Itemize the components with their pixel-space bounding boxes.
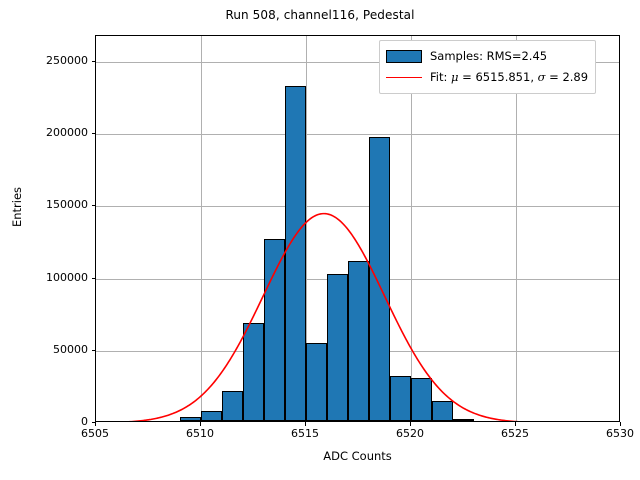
y-axis-tick	[92, 205, 96, 206]
legend-swatch-icon	[386, 50, 422, 63]
x-axis-tick-label: 6520	[370, 427, 450, 440]
y-axis-tick	[92, 278, 96, 279]
x-axis-tick	[620, 422, 621, 426]
y-axis-tick	[92, 61, 96, 62]
x-axis-tick	[305, 422, 306, 426]
legend-fit-prefix: Fit:	[430, 70, 451, 84]
x-axis-tick-label: 6525	[475, 427, 555, 440]
legend-fit-mu-symbol: μ	[451, 70, 458, 84]
page-title: Run 508, channel116, Pedestal	[0, 8, 640, 22]
x-axis-tick	[410, 422, 411, 426]
legend-fit-sigma-symbol: σ	[538, 70, 546, 84]
legend-line-icon	[386, 71, 422, 85]
y-axis-label: Entries	[10, 117, 24, 297]
x-axis-tick	[95, 422, 96, 426]
legend-label-samples: Samples: RMS=2.45	[430, 51, 547, 63]
x-axis-tick-label: 6510	[160, 427, 240, 440]
y-axis-tick	[92, 133, 96, 134]
x-axis-tick-label: 6530	[580, 427, 640, 440]
legend-item-samples: Samples: RMS=2.45	[386, 46, 588, 67]
x-axis-tick-label: 6505	[55, 427, 135, 440]
x-axis-tick	[200, 422, 201, 426]
x-axis-tick-label: 6515	[265, 427, 345, 440]
x-axis-label: ADC Counts	[95, 449, 620, 463]
legend-label-fit: Fit: μ = 6515.851, σ = 2.89	[430, 72, 588, 84]
legend: Samples: RMS=2.45 Fit: μ = 6515.851, σ =…	[379, 40, 596, 94]
legend-item-fit: Fit: μ = 6515.851, σ = 2.89	[386, 67, 588, 88]
y-axis-tick-label: 0	[8, 415, 88, 428]
y-axis-tick-label: 250000	[8, 54, 88, 67]
x-axis-tick	[515, 422, 516, 426]
legend-fit-mu-value: = 6515.851,	[459, 70, 538, 84]
fit-curve-path	[96, 214, 620, 422]
y-axis-tick-label: 50000	[8, 343, 88, 356]
y-axis-tick	[92, 350, 96, 351]
y-axis-tick	[92, 422, 96, 423]
legend-fit-sigma-value: = 2.89	[546, 70, 589, 84]
figure-canvas: Run 508, channel116, Pedestal 6505651065…	[0, 0, 640, 480]
